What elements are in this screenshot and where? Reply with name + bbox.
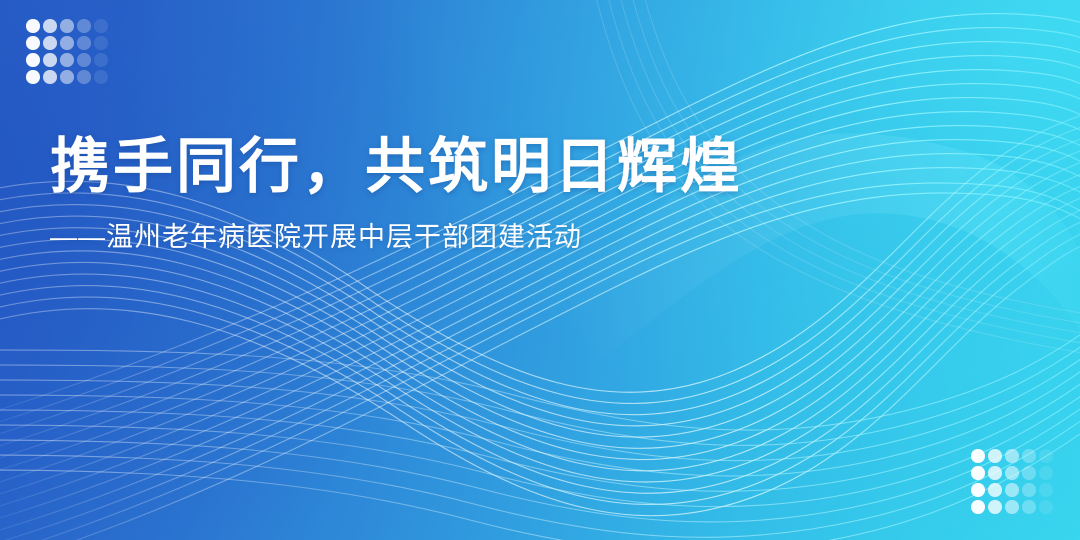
dot: [94, 36, 108, 50]
dot: [971, 500, 985, 514]
dot: [26, 53, 40, 67]
dot: [77, 53, 91, 67]
dot: [1039, 500, 1053, 514]
dot: [94, 53, 108, 67]
banner-subheadline: ——温州老年病医院开展中层干部团建活动: [50, 219, 930, 255]
dot: [1005, 449, 1019, 463]
dot: [94, 70, 108, 84]
wave-lines-decoration: [0, 0, 1080, 540]
dot: [43, 53, 57, 67]
dot: [1039, 483, 1053, 497]
dot: [43, 70, 57, 84]
dot: [1005, 483, 1019, 497]
dot: [971, 466, 985, 480]
dot: [1039, 449, 1053, 463]
dot: [1022, 500, 1036, 514]
dot: [26, 19, 40, 33]
dot: [60, 19, 74, 33]
dot: [1005, 466, 1019, 480]
dot: [971, 449, 985, 463]
dot: [988, 466, 1002, 480]
dot: [988, 483, 1002, 497]
dot: [988, 449, 1002, 463]
dot-grid-bottom-right: [971, 449, 1056, 517]
banner-text-block: 携手同行，共筑明日辉煌 ——温州老年病医院开展中层干部团建活动: [50, 131, 930, 255]
dot: [1039, 466, 1053, 480]
dot: [26, 36, 40, 50]
banner-root: 携手同行，共筑明日辉煌 ——温州老年病医院开展中层干部团建活动: [0, 0, 1080, 540]
dot: [60, 36, 74, 50]
dot: [94, 19, 108, 33]
dot: [43, 36, 57, 50]
dot: [988, 500, 1002, 514]
dot: [77, 70, 91, 84]
dot: [1022, 449, 1036, 463]
dot: [1005, 500, 1019, 514]
dot: [60, 53, 74, 67]
dot: [1022, 466, 1036, 480]
dot: [77, 36, 91, 50]
dot: [43, 19, 57, 33]
dot: [1022, 483, 1036, 497]
dot: [60, 70, 74, 84]
dot: [971, 483, 985, 497]
dot: [77, 19, 91, 33]
banner-headline: 携手同行，共筑明日辉煌: [50, 131, 930, 203]
dot-grid-top-left: [26, 19, 111, 87]
dot: [26, 70, 40, 84]
